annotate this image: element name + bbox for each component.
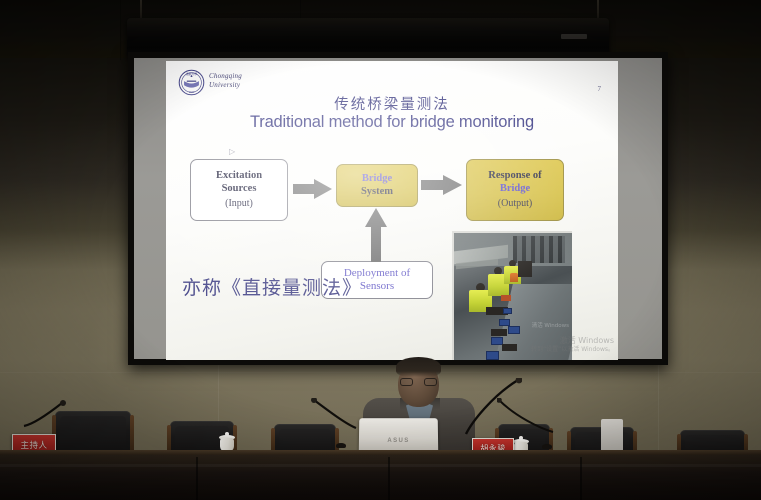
chair-frame [130, 415, 134, 452]
table-highlight [0, 464, 761, 467]
watermark-line2: 转到“设置”以激活 Windows。 [531, 346, 614, 354]
teacup-center [219, 432, 235, 452]
table-panel-seam [196, 457, 198, 500]
node-line2: Sensors [360, 280, 394, 293]
conference-table [0, 455, 761, 500]
laptop-brand-label: ASUS [387, 438, 409, 444]
flow-node-bridge-system: Bridge System [336, 164, 418, 207]
microphone-base [542, 444, 552, 449]
node-line1: Response of [488, 170, 541, 183]
flow-node-excitation-sources: Excitation Sources (Input) [190, 159, 288, 221]
node-line2: Bridge [500, 183, 530, 196]
photo-equipment-case [503, 308, 512, 314]
watermark-line1: 激活 Windows [531, 336, 614, 346]
photo-watermark: 清活 Windows [532, 323, 569, 330]
chair-frame [271, 428, 275, 452]
microphone-gooseneck [22, 400, 66, 428]
wall-seam [0, 372, 761, 373]
photo-equipment [501, 295, 511, 301]
slide-footnote-chinese: 亦称《直接量测法》 [182, 273, 362, 300]
microphone-gooseneck [310, 398, 358, 430]
arrow-up-deployment-to-bridge [364, 207, 388, 263]
projection-screen: 重慶大學 1929 Chongqing University 7 传统桥梁量测法… [128, 52, 668, 365]
photo-equipment-case [508, 326, 520, 334]
teacup-knob [519, 436, 523, 440]
photo-equipment [491, 329, 507, 336]
photo-watermark-line1: 清活 Windows [532, 323, 569, 330]
chair-frame [167, 425, 171, 452]
arrow-right-excitation-to-bridge [292, 178, 334, 200]
arrow-right-bridge-to-response [420, 174, 464, 196]
microphone-base [336, 443, 346, 448]
photo-equipment-case [499, 319, 510, 326]
node-line2: System [361, 186, 393, 199]
chair-back [279, 429, 331, 452]
lecture-hall-scene: 重慶大學 1929 Chongqing University 7 传统桥梁量测法… [0, 0, 761, 500]
presenter-hair [396, 357, 441, 377]
node-line1: Excitation [216, 170, 262, 183]
table-panel-seam [388, 457, 390, 500]
windows-activation-watermark: 激活 Windows 转到“设置”以激活 Windows。 [531, 336, 614, 354]
photo-equipment-case [486, 351, 499, 360]
photo-worker-crouching [518, 261, 532, 277]
chair-back [60, 416, 126, 452]
presenter-eyeglasses [400, 378, 437, 386]
node-sublabel: (Input) [225, 197, 253, 210]
node-line2: Sources [222, 183, 257, 196]
node-line1: Bridge [362, 173, 392, 186]
projected-slide: 重慶大學 1929 Chongqing University 7 传统桥梁量测法… [166, 61, 618, 360]
teacup-knob [225, 432, 229, 436]
wall-seam [120, 0, 121, 60]
node-sublabel: (Output) [498, 197, 532, 210]
photo-worker-vest-orange [510, 273, 518, 282]
chair-frame [335, 428, 339, 452]
photo-bridge-structure [513, 236, 565, 264]
laptop-secondary [601, 419, 623, 453]
flow-node-response-of-bridge: Response of Bridge (Output) [466, 159, 564, 221]
photo-equipment [502, 344, 517, 351]
table-panel-seam [580, 457, 582, 500]
mouse-cursor-icon: ▷ [229, 147, 234, 154]
microphone-gooseneck [497, 398, 555, 434]
